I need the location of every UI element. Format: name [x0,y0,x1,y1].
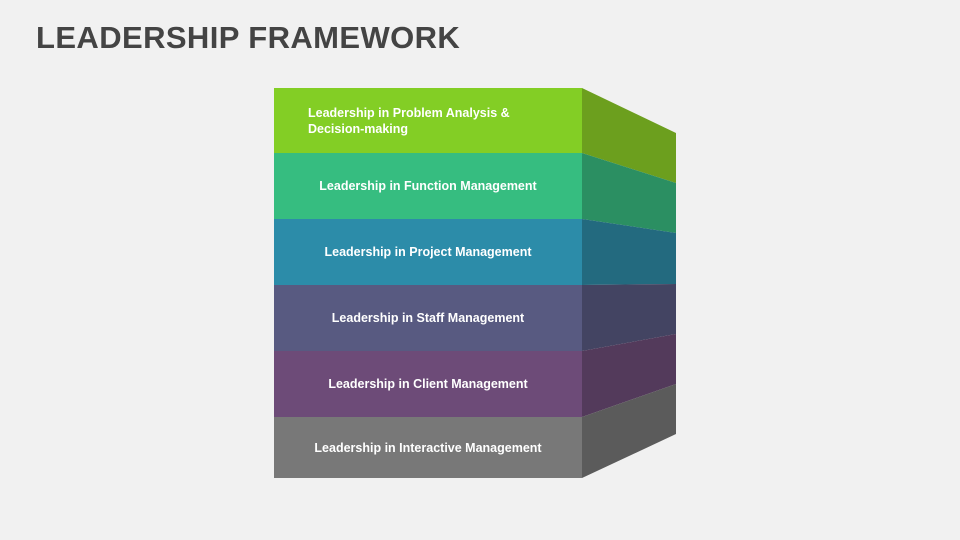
layer-face-4[interactable] [274,285,582,351]
layer-face-3[interactable] [274,219,582,285]
layer-face-6[interactable] [274,417,582,478]
diagram-shapes [274,88,676,478]
layer-face-5[interactable] [274,351,582,417]
layer-face-2[interactable] [274,153,582,219]
slide-canvas: LEADERSHIP FRAMEWORK Leadership in Probl… [0,0,960,540]
leadership-framework-diagram: Leadership in Problem Analysis & Decisio… [274,88,676,478]
page-title: LEADERSHIP FRAMEWORK [36,18,460,58]
layer-face-1[interactable] [274,88,582,153]
